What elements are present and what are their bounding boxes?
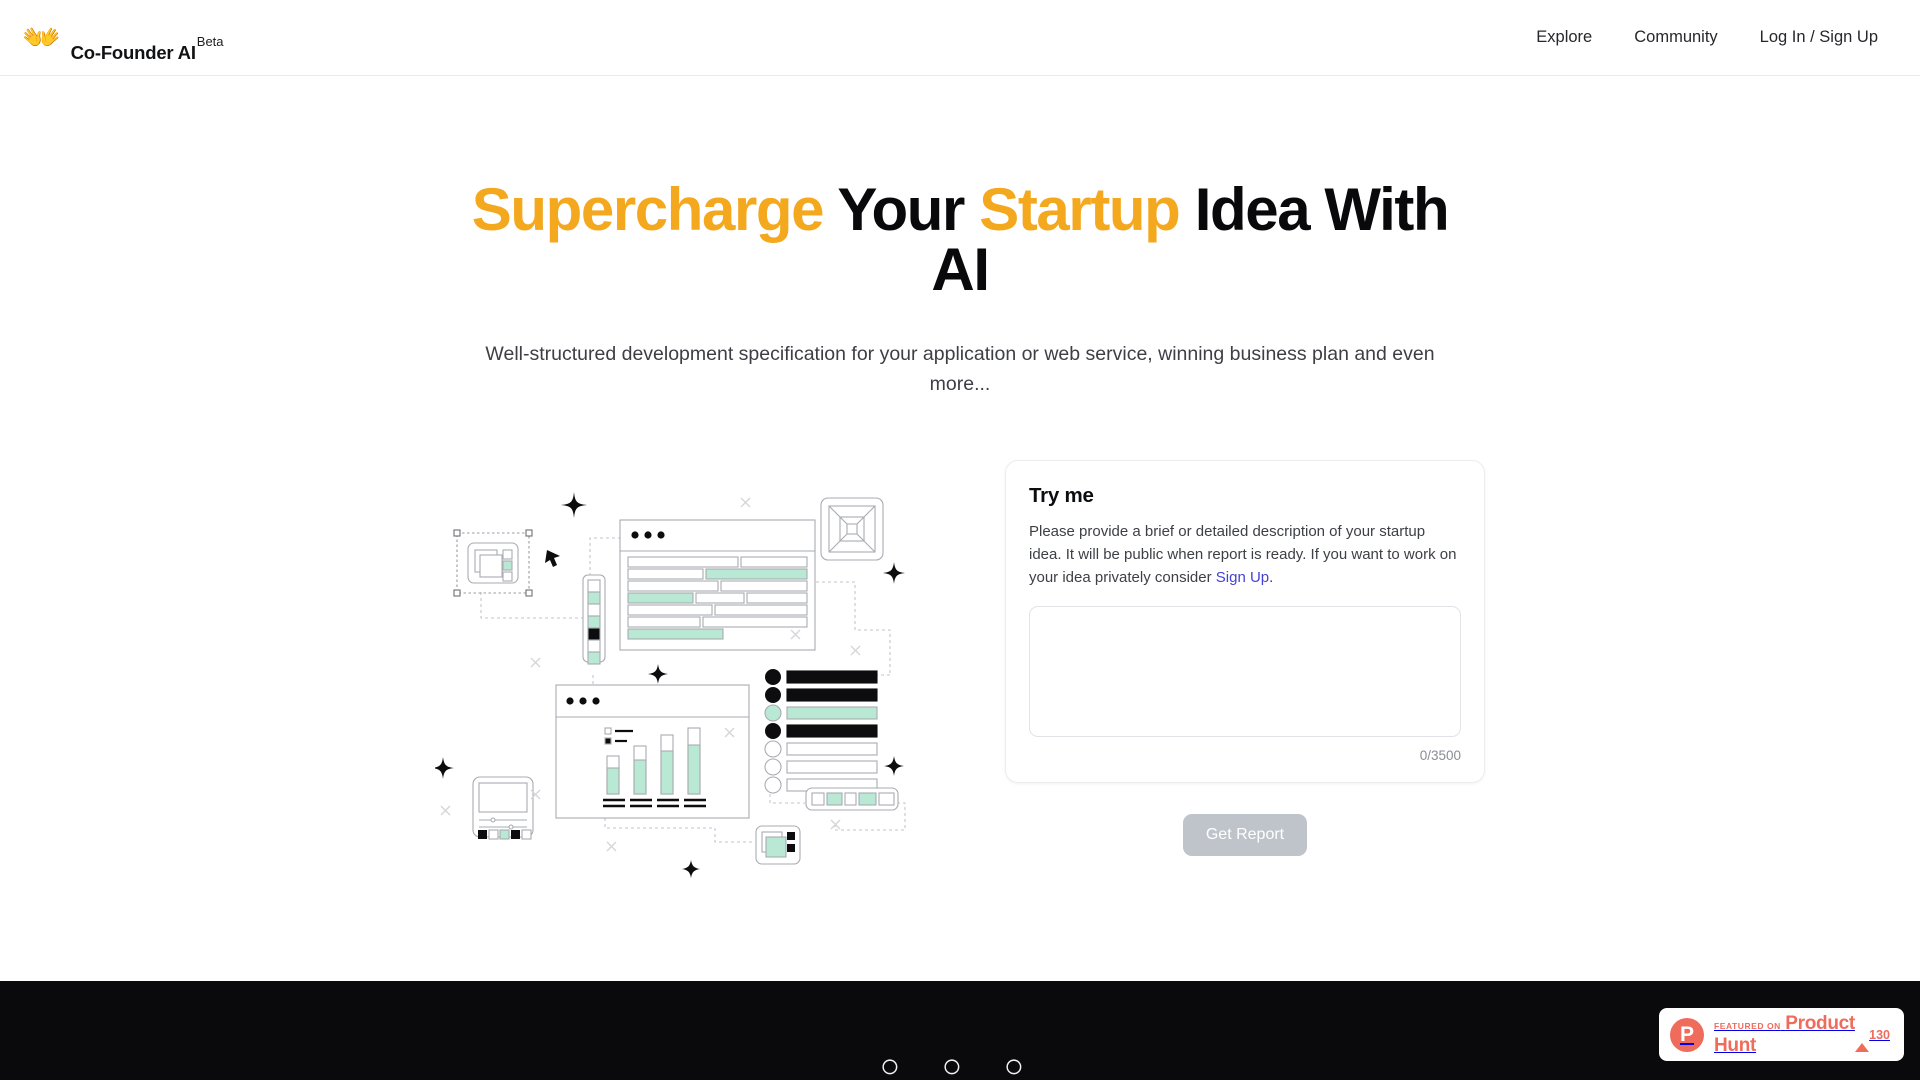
idea-textarea[interactable] [1029, 606, 1461, 737]
hero-section: Supercharge Your Startup Idea With AI We… [0, 76, 1920, 399]
brand-logo[interactable]: 👐 Co-Founder AI Beta [22, 22, 224, 53]
product-hunt-badge[interactable]: P FEATURED ON Product Hunt 130 [1659, 1008, 1904, 1061]
brand-name: Co-Founder AI [71, 44, 196, 63]
hero-subtitle: Well-structured development specificatio… [470, 340, 1450, 399]
try-me-column: Try me Please provide a brief or detaile… [1005, 460, 1485, 856]
site-footer: ○ ○ ○ [0, 981, 1920, 1080]
main-nav: Explore Community Log In / Sign Up [1536, 28, 1878, 47]
hero-content-row: Try me Please provide a brief or detaile… [0, 460, 1920, 890]
title-highlight-2: Startup [979, 176, 1179, 243]
nav-item-login-signup[interactable]: Log In / Sign Up [1760, 28, 1878, 47]
featured-on-label: FEATURED ON [1714, 1021, 1781, 1031]
nav-item-explore[interactable]: Explore [1536, 28, 1592, 47]
upvote-count: 130 [1869, 1028, 1890, 1042]
footer-social-icons[interactable]: ○ ○ ○ [0, 1049, 1920, 1080]
landing-page: 👐 Co-Founder AI Beta Explore Community L… [0, 0, 1920, 1080]
title-plain-1: Your [823, 176, 979, 243]
get-report-button[interactable]: Get Report [1183, 814, 1307, 856]
card-description-period: . [1269, 569, 1273, 586]
page-title: Supercharge Your Startup Idea With AI [455, 180, 1465, 300]
open-hands-icon: 👐 [22, 22, 61, 53]
sign-up-link[interactable]: Sign Up [1216, 569, 1269, 586]
card-title: Try me [1029, 484, 1461, 508]
beta-badge: Beta [197, 35, 224, 48]
product-hunt-icon: P [1670, 1018, 1704, 1052]
startup-workflow-illustration [435, 470, 935, 890]
card-description: Please provide a brief or detailed descr… [1029, 521, 1461, 589]
try-me-card: Try me Please provide a brief or detaile… [1005, 460, 1485, 783]
site-header: 👐 Co-Founder AI Beta Explore Community L… [0, 0, 1920, 76]
title-highlight-1: Supercharge [472, 176, 823, 243]
upvote-arrow-icon [1855, 1026, 1869, 1052]
product-hunt-name: Product Hunt [1714, 1013, 1855, 1056]
character-counter: 0/3500 [1029, 748, 1461, 763]
nav-item-community[interactable]: Community [1634, 28, 1717, 47]
